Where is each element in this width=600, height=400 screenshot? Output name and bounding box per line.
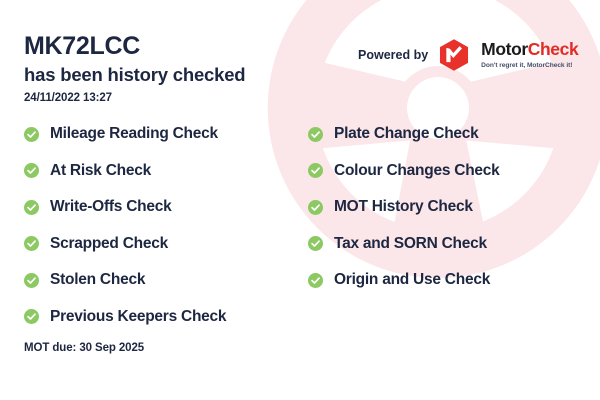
green-check-circle-icon xyxy=(308,127,323,142)
green-check-circle-icon xyxy=(24,273,39,288)
green-check-circle-icon xyxy=(308,163,323,178)
check-item-tax-and-sorn: Tax and SORN Check xyxy=(308,226,500,263)
check-label: MOT History Check xyxy=(334,198,473,216)
check-label: Colour Changes Check xyxy=(334,162,500,180)
check-item-previous-keepers: Previous Keepers Check xyxy=(24,299,226,336)
check-item-stolen: Stolen Check xyxy=(24,262,226,299)
checklist-left-column: Mileage Reading Check At Risk Check Writ… xyxy=(24,116,226,335)
check-item-mot-history: MOT History Check xyxy=(308,189,500,226)
green-check-circle-icon xyxy=(24,309,39,324)
check-item-colour-changes: Colour Changes Check xyxy=(308,153,500,190)
brand-bar: Powered by MotorCheck Don't regret it, M… xyxy=(358,38,578,72)
green-check-circle-icon xyxy=(24,236,39,251)
check-label: At Risk Check xyxy=(50,162,151,180)
green-check-circle-icon xyxy=(308,273,323,288)
check-label: Plate Change Check xyxy=(334,125,479,143)
check-item-scrapped: Scrapped Check xyxy=(24,226,226,263)
check-item-write-offs: Write-Offs Check xyxy=(24,189,226,226)
green-check-circle-icon xyxy=(308,236,323,251)
check-label: Write-Offs Check xyxy=(50,198,171,216)
check-item-at-risk: At Risk Check xyxy=(24,153,226,190)
checklist-right-column: Plate Change Check Colour Changes Check … xyxy=(308,116,500,299)
registration-number: MK72LCC xyxy=(24,32,245,62)
check-item-mileage-reading: Mileage Reading Check xyxy=(24,116,226,153)
green-check-circle-icon xyxy=(24,163,39,178)
check-label: Tax and SORN Check xyxy=(334,235,487,253)
check-label: Previous Keepers Check xyxy=(50,308,226,326)
motorcheck-hexagon-m-icon xyxy=(437,38,471,72)
brand-tagline: Don't regret it, MotorCheck it! xyxy=(481,62,578,69)
green-check-circle-icon xyxy=(24,200,39,215)
check-label: Mileage Reading Check xyxy=(50,125,218,143)
headline-subtitle: has been history checked xyxy=(24,63,245,86)
check-item-origin-and-use: Origin and Use Check xyxy=(308,262,500,299)
wordmark-motor: Motor xyxy=(481,39,528,59)
check-label: Stolen Check xyxy=(50,271,145,289)
powered-by-label: Powered by xyxy=(358,48,428,62)
headline-block: MK72LCC has been history checked 24/11/2… xyxy=(24,32,245,104)
check-timestamp: 24/11/2022 13:27 xyxy=(24,92,245,104)
wordmark-check: Check xyxy=(528,39,579,59)
mot-due-label: MOT due: 30 Sep 2025 xyxy=(24,342,144,354)
check-label: Origin and Use Check xyxy=(334,271,490,289)
green-check-circle-icon xyxy=(308,200,323,215)
check-item-plate-change: Plate Change Check xyxy=(308,116,500,153)
check-label: Scrapped Check xyxy=(50,235,168,253)
green-check-circle-icon xyxy=(24,127,39,142)
motorcheck-wordmark: MotorCheck Don't regret it, MotorCheck i… xyxy=(481,41,578,69)
vehicle-history-check-card: MK72LCC has been history checked 24/11/2… xyxy=(0,0,600,400)
